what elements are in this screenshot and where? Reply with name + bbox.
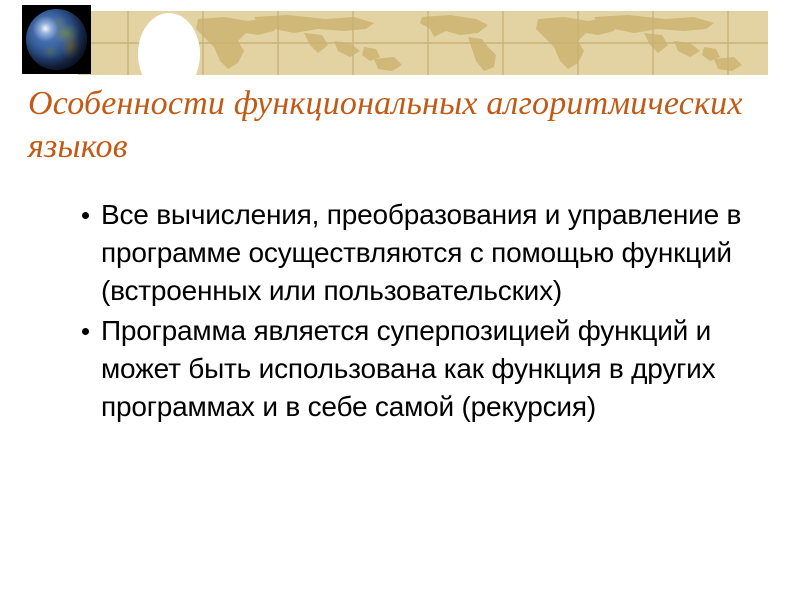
bullet-item-1: Все вычисления, преобразования и управле… <box>78 196 778 310</box>
bullet-marker-icon <box>82 328 89 335</box>
globe-sphere-shape <box>26 9 87 70</box>
bullet-text-1: Все вычисления, преобразования и управле… <box>101 196 778 310</box>
bullet-text-2: Программа является суперпозицией функций… <box>101 312 778 426</box>
bullet-marker-icon <box>82 212 89 219</box>
bullet-list: Все вычисления, преобразования и управле… <box>78 196 778 428</box>
bullet-item-2: Программа является суперпозицией функций… <box>78 312 778 426</box>
globe-earth-icon <box>22 5 91 74</box>
world-map-banner <box>78 11 768 75</box>
slide-title: Особенности функциональных алгоритмическ… <box>28 82 768 168</box>
slide-canvas: Особенности функциональных алгоритмическ… <box>0 0 800 600</box>
